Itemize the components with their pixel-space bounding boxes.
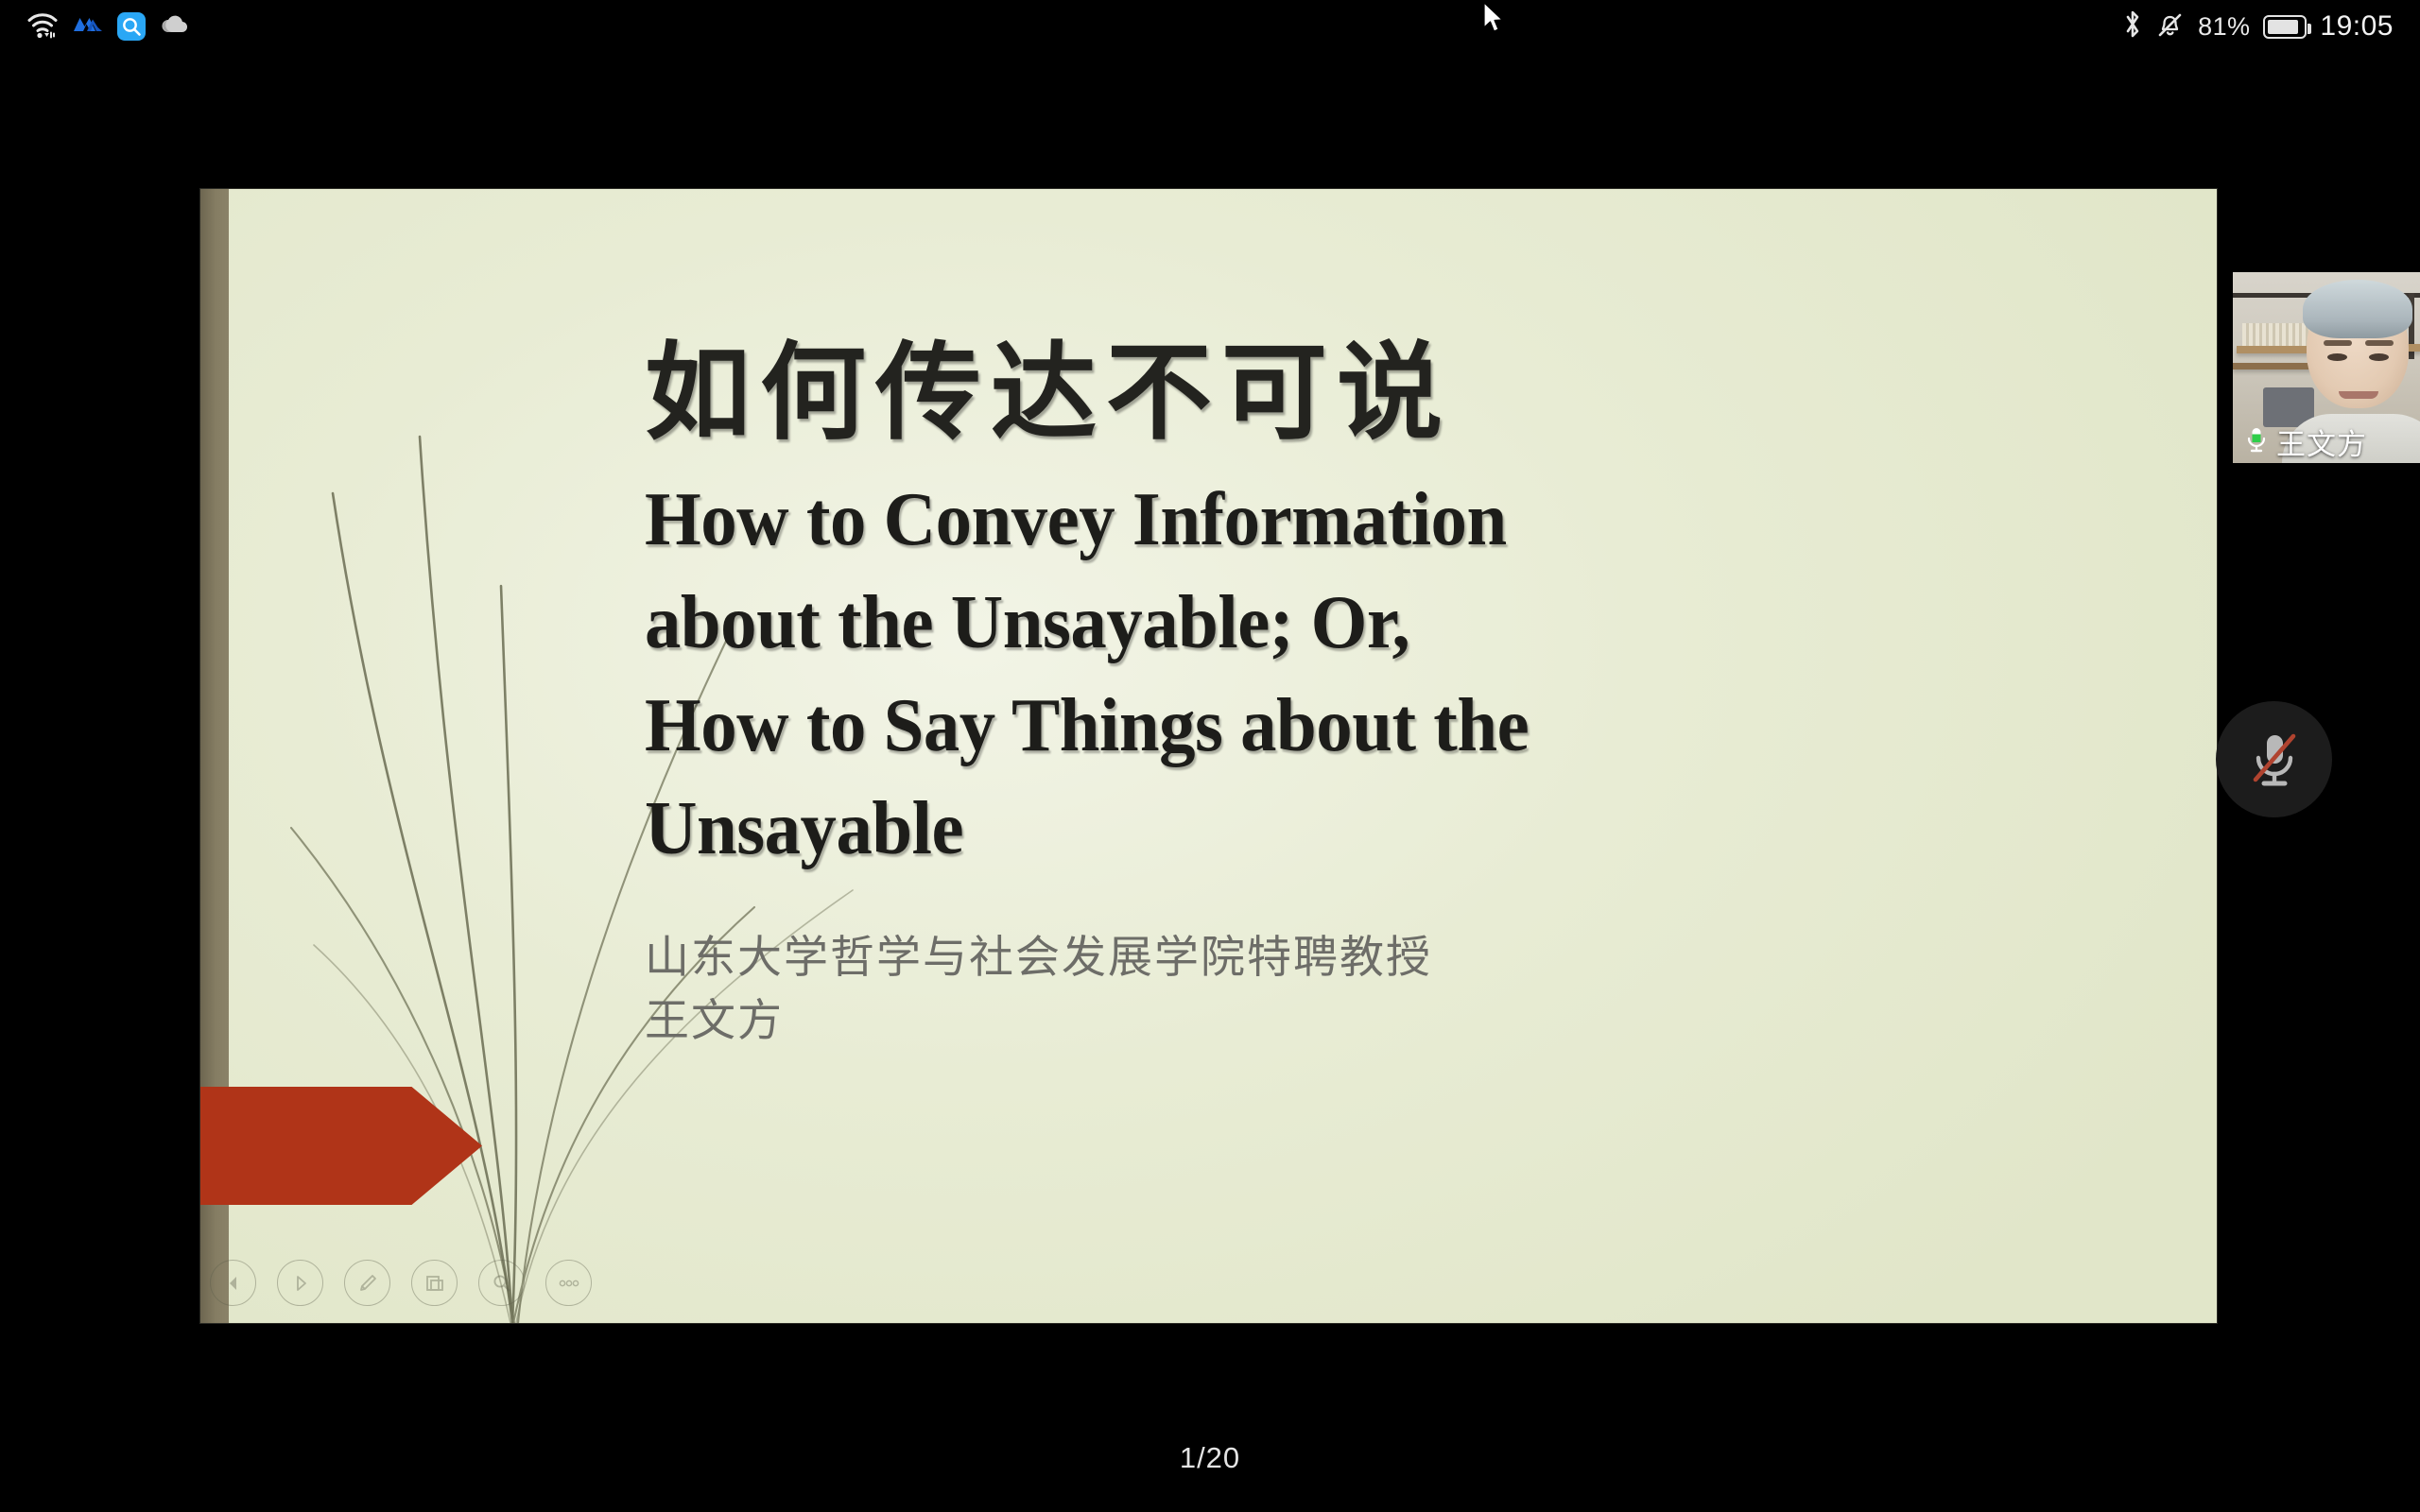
participant-name-bar: 王文方 (2233, 420, 2420, 463)
bluetooth-icon[interactable] (2122, 9, 2143, 44)
slide-overview-button[interactable] (411, 1260, 458, 1306)
slide-subtitle-author: 山东大学哲学与社会发展学院特聘教授 王文方 (645, 927, 2063, 1053)
notifications-off-icon[interactable] (2156, 9, 2185, 44)
zoom-button[interactable] (478, 1260, 525, 1306)
pen-annotate-button[interactable] (344, 1260, 390, 1306)
mouse-cursor (1482, 2, 1507, 43)
status-bar-left-icons (26, 0, 191, 53)
more-options-button[interactable] (545, 1260, 592, 1306)
wifi-icon[interactable] (26, 10, 59, 43)
participant-video-thumbnail[interactable]: 王文方 (2233, 272, 2420, 463)
slide-title-english: How to Convey Information about the Unsa… (645, 469, 2006, 880)
clock-label: 19:05 (2320, 10, 2394, 43)
microphone-active-icon (2244, 425, 2269, 458)
meta-app-icon[interactable] (72, 13, 104, 41)
slide-title-chinese: 如何传达不可说 (645, 331, 2063, 455)
battery-percent-label: 81% (2198, 12, 2250, 42)
previous-slide-button[interactable] (210, 1260, 256, 1306)
slide-toolbar[interactable] (210, 1260, 592, 1306)
shared-screen-slide[interactable]: 如何传达不可说 How to Convey Information about … (200, 189, 2217, 1323)
status-bar: 81% 19:05 (0, 0, 2420, 53)
microphone-muted-button[interactable] (2216, 701, 2332, 817)
play-slideshow-button[interactable] (277, 1260, 323, 1306)
cloud-icon[interactable] (159, 13, 191, 41)
slide-text-block: 如何传达不可说 How to Convey Information about … (645, 331, 2063, 1054)
slide-page-indicator: 1/20 (0, 1441, 2420, 1475)
search-app-icon[interactable] (117, 12, 146, 41)
battery-icon (2263, 15, 2307, 39)
status-bar-right-icons: 81% 19:05 (2122, 0, 2394, 53)
participant-name-label: 王文方 (2276, 421, 2367, 463)
